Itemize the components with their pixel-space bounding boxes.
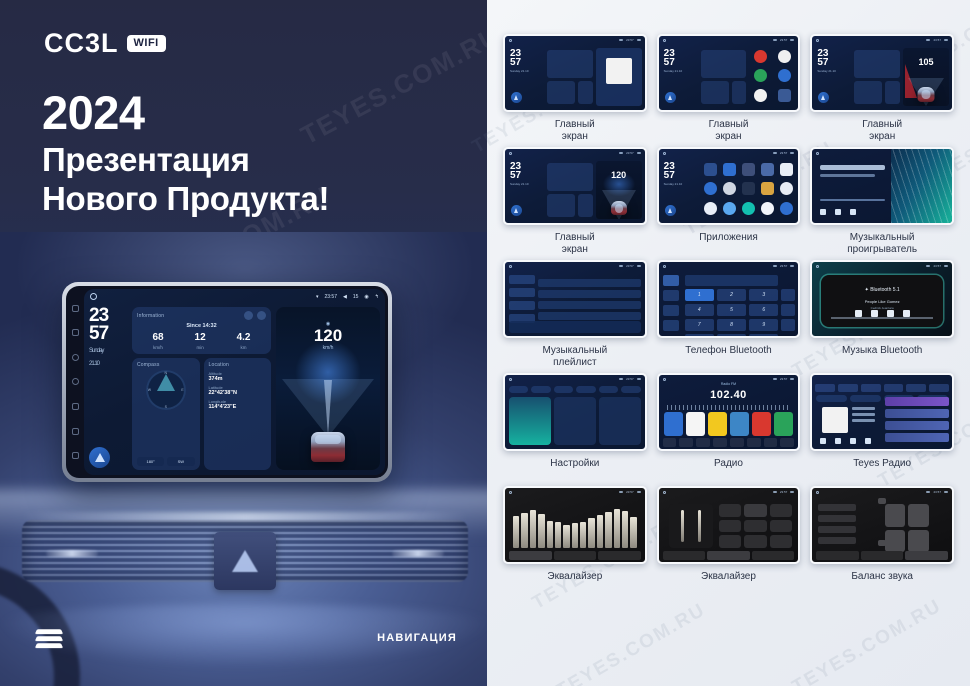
station-presets: [664, 412, 794, 436]
thumbnail-radio[interactable]: 23:57 Radio FM 102.40: [657, 373, 801, 451]
speed-readout: ◉ 120 km/h: [276, 321, 380, 351]
watermark: TEYES.COM.RU: [789, 595, 946, 686]
key-1: 1: [685, 289, 714, 301]
back-arrow-icon[interactable]: ↰: [375, 294, 379, 300]
thumbnail-home-apps[interactable]: 23:57 2357Sunday 21.10: [657, 34, 801, 112]
head-unit-device: ▾ 23:57 ◀ 15 ◉ ↰ 23 57: [62, 282, 392, 482]
list-item: [538, 279, 641, 287]
camera-icon[interactable]: ◉: [364, 294, 368, 300]
navigation-fab-button[interactable]: [89, 447, 110, 468]
status-bar: ▾ 23:57 ◀ 15 ◉ ↰: [84, 289, 385, 304]
gallery-item[interactable]: 23:57 Баланс звука: [810, 486, 954, 597]
location-card: [732, 81, 747, 104]
preset-button: [719, 504, 742, 517]
mini-status-bar: 23:57: [659, 149, 799, 157]
screenshot-gallery: TEYES.COM.RU TEYES.COM.RU TEYES.COM.RU T…: [487, 0, 970, 686]
tab-balance: [905, 551, 948, 560]
dialpad: 123 456 789 *0#: [685, 289, 779, 338]
favorite-icon: [781, 289, 795, 301]
play-pause-icon: [871, 310, 878, 317]
mini-status-bar: 23:57: [505, 36, 645, 44]
compass-card: [854, 81, 882, 104]
trip-stats: 68 km/h 12 min 4.2 km: [137, 333, 266, 350]
key-0: 0: [717, 334, 746, 338]
previous-icon: [820, 438, 826, 444]
gallery-caption: Музыкальныйплейлист: [542, 345, 607, 371]
track-title: [820, 165, 885, 170]
album-art: [822, 407, 848, 433]
thumbnail-settings[interactable]: 23:57: [503, 373, 647, 451]
gallery-caption: Главныйэкран: [555, 232, 595, 258]
refresh-icon[interactable]: [244, 311, 253, 320]
key-7: 7: [685, 319, 714, 331]
speaker-fl: [885, 504, 906, 527]
preset-3: [708, 412, 727, 436]
mini-clock: 2357Sunday 21.10: [817, 49, 836, 73]
compass-card: [547, 81, 575, 104]
compass-readouts: 180° SW: [137, 457, 195, 466]
key-9: 9: [749, 319, 778, 331]
mini-status-bar: 23:57: [812, 262, 952, 270]
gallery-caption: Teyes Радио: [853, 458, 911, 484]
gallery-item[interactable]: 23:57 Музыкальныйпроигрыватель: [810, 147, 954, 258]
headline-block: 2024 Презентация Нового Продукта!: [42, 88, 329, 218]
navigation-fab-button: [665, 92, 676, 103]
compass-heading-cone: [157, 374, 175, 391]
contacts-icon: [781, 304, 795, 316]
gallery-caption: Телефон Bluetooth: [685, 345, 772, 371]
preset-button: [770, 520, 793, 533]
thumbnail-home-nav[interactable]: 23:57 2357Sunday 21.10 120: [503, 147, 647, 225]
playback-controls: [820, 209, 856, 215]
key-star: *: [685, 334, 714, 338]
button-mic-icon[interactable]: [72, 305, 79, 312]
speed-unit: km/h: [276, 345, 380, 351]
list-item: [885, 433, 949, 442]
information-card: [547, 50, 593, 78]
tab-eq: [663, 551, 706, 560]
stat-duration: 12 min: [195, 333, 206, 350]
speaker-rl: [885, 530, 906, 553]
gallery-caption: Баланс звука: [851, 571, 913, 597]
mini-status-bar: 23:57: [659, 36, 799, 44]
location-card: [885, 81, 900, 104]
key-6: 6: [749, 304, 778, 316]
compass-w: W: [148, 388, 151, 392]
home-icon: [663, 152, 666, 155]
key-5: 5: [717, 304, 746, 316]
eq-tabs: [663, 551, 795, 560]
button-home-icon[interactable]: [72, 378, 79, 385]
gallery-item[interactable]: 23:57 2357Sunday 21.10 120 Главныйэкран: [503, 147, 647, 258]
back-button: [665, 205, 676, 216]
favorite-icon: [865, 438, 871, 444]
fader-panel: [669, 504, 713, 548]
mini-status-bar: 23:57: [812, 488, 952, 496]
volume-icon[interactable]: ◀: [343, 294, 347, 300]
home-icon: [509, 378, 512, 381]
phone-sidebar: [663, 275, 679, 331]
thumbnail-apps[interactable]: 23:57 2357Sunday 21.10: [657, 147, 801, 225]
information-title: Information: [137, 313, 164, 319]
stop-icon: [887, 310, 894, 317]
drive-view-card: 105: [903, 48, 949, 106]
compass-title: Compass: [137, 362, 195, 368]
album-art: [606, 58, 632, 84]
thumbnail-bt-music[interactable]: 23:57 ✦ Bluetooth 5.1 People Like Gomez …: [810, 260, 954, 338]
gallery-caption: Главныйэкран: [862, 119, 902, 145]
device-screen[interactable]: ▾ 23:57 ◀ 15 ◉ ↰ 23 57: [84, 289, 385, 475]
navigation-fab-button: [818, 92, 829, 103]
thumbnail-teyes-radio[interactable]: [810, 373, 954, 451]
preset-button: [719, 520, 742, 533]
home-icon: [663, 378, 666, 381]
gallery-item[interactable]: 23:57 2357Sunday 21.10 105 Главныйэкран: [810, 34, 954, 145]
tab-wifi: [509, 386, 528, 393]
navigation-label: НАВИГАЦИЯ: [377, 632, 457, 644]
headline-year: 2024: [42, 88, 329, 137]
home-icon: [816, 265, 819, 268]
preset-4: [730, 412, 749, 436]
gallery-item[interactable]: 23:57 123 456 789 *0# Телефон: [657, 260, 801, 371]
clock-date: 21.10: [89, 361, 127, 369]
screen-body: 23 57 Sunday 21.10 Information: [84, 304, 385, 475]
home-icon: [509, 491, 512, 494]
radio-toolbar: [663, 438, 795, 447]
brand-logo: CC3L WIFI: [44, 28, 166, 59]
balance-presets: [818, 504, 856, 544]
wifi-badge: WIFI: [127, 35, 166, 51]
mini-clock: 2357Sunday 21.10: [664, 49, 683, 73]
key-2: 2: [717, 289, 746, 301]
tab-fader: [554, 551, 597, 560]
latitude-value: 22°42'38"N: [209, 390, 267, 396]
home-icon: [509, 39, 512, 42]
clock-day: Sunday: [89, 348, 127, 356]
preset-6: [774, 412, 793, 436]
gallery-caption: Эквалайзер: [547, 571, 602, 597]
gallery-item[interactable]: 23:57 ✦ Bluetooth 5.1 People Like Gomez …: [810, 260, 954, 371]
compass-e: E: [181, 388, 183, 392]
rear-control: [878, 540, 886, 546]
stat-speed: 68 km/h: [152, 333, 163, 350]
gallery-caption: Главныйэкран: [709, 119, 749, 145]
mini-status-bar: 23:57: [505, 149, 645, 157]
drive-view-card: 120: [596, 161, 642, 219]
status-volume: 15: [353, 294, 359, 300]
progress-bar: [820, 199, 885, 201]
location-card: [578, 194, 593, 217]
preset-2: [686, 412, 705, 436]
stat-value: 12: [195, 333, 206, 343]
gallery-item[interactable]: 23:57 Radio FM 102.40 Радио: [657, 373, 801, 484]
information-card: [854, 50, 900, 78]
stat-unit: min: [195, 345, 206, 350]
bluetooth-label: ✦ Bluetooth 5.1: [821, 287, 943, 293]
stat-distance: 4.2 km: [237, 333, 251, 350]
home-icon: [509, 265, 512, 268]
home-icon: [816, 491, 819, 494]
gallery-caption: Музыкальныйпроигрыватель: [847, 232, 917, 258]
information-card: [701, 50, 747, 78]
now-playing-bar: [509, 321, 641, 333]
gallery-caption: Главныйэкран: [555, 119, 595, 145]
tab-display: [554, 386, 573, 393]
mini-status-bar: 23:57: [659, 488, 799, 496]
gallery-item[interactable]: Teyes Радио: [810, 373, 954, 484]
altitude-value: 374m: [209, 376, 267, 382]
pause-icon: [835, 209, 841, 215]
button-volume-down-icon[interactable]: [72, 428, 79, 435]
hazard-triangle-icon: [232, 550, 258, 572]
since-label: Since 14:32: [137, 323, 266, 329]
mini-status-bar: 23:57: [659, 262, 799, 270]
location-longitude: Longitude 114°4'23"E: [209, 399, 267, 410]
key-8: 8: [717, 319, 746, 331]
number-field: [685, 275, 779, 286]
speed-value: 120: [596, 170, 642, 180]
stat-unit: km: [237, 345, 251, 350]
thumbnail-home-media[interactable]: 23:57 2357Sunday 21.10: [503, 34, 647, 112]
home-icon[interactable]: [90, 293, 97, 300]
gallery-item[interactable]: 23:57 Настройки: [503, 373, 647, 484]
wifi-icon: ▾: [316, 294, 319, 300]
compass-card: [701, 81, 729, 104]
hotspot-card: [554, 397, 596, 445]
compass-card[interactable]: Compass N E S W 180°: [132, 358, 200, 470]
gallery-caption: Эквалайзер: [701, 571, 756, 597]
teyes-toolbar: [815, 384, 949, 392]
more-card: [599, 397, 641, 445]
hero-panel: TEYES.COM.RU TEYES.COM.RU TEYES.COM.RU T…: [0, 0, 487, 686]
wifi-card: [509, 397, 551, 445]
widgets-column: Information Since 14:32 68: [132, 307, 271, 470]
bluetooth-player-card: ✦ Bluetooth 5.1 People Like Gomez Cedric…: [821, 275, 943, 327]
gallery-item[interactable]: 23:57 2357Sunday 21.10: [657, 147, 801, 258]
tab-fader: [861, 551, 904, 560]
stat-value: 68: [152, 333, 163, 343]
speaker-fr: [908, 504, 929, 527]
compass-dial: N E S W: [146, 370, 186, 410]
gallery-grid: 23:57 2357Sunday 21.10 Главныйэкран 23:5…: [503, 34, 954, 597]
presentation-page: TEYES.COM.RU TEYES.COM.RU TEYES.COM.RU T…: [0, 0, 970, 686]
hazard-light-button[interactable]: [214, 532, 276, 590]
tab-sound: [531, 386, 550, 393]
next-icon: [903, 310, 910, 317]
stat-value: 4.2: [237, 333, 251, 343]
widgets-row: Compass N E S W 180°: [132, 358, 271, 470]
gallery-caption: Настройки: [550, 458, 599, 484]
tab-apps: [599, 386, 618, 393]
visualizer-graphic: [891, 149, 952, 223]
information-header: Information: [137, 311, 266, 320]
mini-status-bar: 23:57: [812, 36, 952, 44]
brand-name: CC3L: [44, 28, 119, 59]
track-title: People Like Gomez: [821, 299, 943, 304]
tab-balance: [752, 551, 795, 560]
location-latitude: Latitude 22°42'38"N: [209, 385, 267, 396]
clock-widget: 23 57 Sunday 21.10: [89, 307, 127, 369]
mini-clock: 2357Sunday 21.10: [510, 49, 529, 73]
previous-icon: [820, 209, 826, 215]
playback-controls: [821, 310, 943, 317]
tab-eq: [816, 551, 859, 560]
track-list: [538, 279, 641, 320]
location-card: [578, 81, 593, 104]
mini-status-bar: 23:57: [505, 488, 645, 496]
preset-button: [744, 504, 767, 517]
navigation-fab-button: [511, 205, 522, 216]
key-4: 4: [685, 304, 714, 316]
list-item: [538, 312, 641, 320]
gallery-item[interactable]: 23:57 2357Sunday 21.10 Главныйэкран: [503, 34, 647, 145]
thumbnail-playlist[interactable]: 23:57: [503, 260, 647, 338]
thumbnail-sound-balance[interactable]: 23:57: [810, 486, 954, 564]
app-grid: [703, 161, 795, 217]
thumbnail-equalizer-presets[interactable]: 23:57: [657, 486, 801, 564]
playback-controls: [820, 438, 871, 444]
gallery-item[interactable]: 23:57 Эквалайзер: [503, 486, 647, 597]
location-title: Location: [209, 362, 267, 368]
gallery-caption: Приложения: [699, 232, 758, 258]
information-actions[interactable]: [244, 311, 266, 320]
progress-bar: [831, 317, 933, 319]
gallery-caption: Музыка Bluetooth: [842, 345, 922, 371]
clock-minutes: 57: [89, 325, 127, 343]
mini-clock: 2357Sunday 21.10: [510, 162, 529, 186]
head-unit-bezel: ▾ 23:57 ◀ 15 ◉ ↰ 23 57: [66, 286, 388, 478]
location-card[interactable]: Location Altitude 374m Latitude 22°42'38…: [204, 358, 272, 470]
home-icon: [663, 491, 666, 494]
speaker-rr: [908, 530, 929, 553]
status-time: 23:57: [324, 294, 337, 300]
thumbnail-bt-phone[interactable]: 23:57 123 456 789 *0#: [657, 260, 801, 338]
thumbnail-music-player[interactable]: 23:57: [810, 147, 954, 225]
next-icon: [850, 209, 856, 215]
list-item: [885, 397, 949, 406]
list-item: [885, 421, 949, 430]
home-icon: [663, 265, 666, 268]
tab-eq: [509, 551, 552, 560]
gallery-caption: Радио: [714, 458, 743, 484]
drive-view-card[interactable]: ◉ 120 km/h: [276, 307, 380, 470]
tab-fader: [707, 551, 750, 560]
headline-line1: Презентация: [42, 141, 329, 179]
call-icon: [781, 319, 795, 331]
key-hash: #: [749, 334, 778, 338]
button-volume-up-icon[interactable]: [72, 452, 79, 459]
information-card[interactable]: Information Since 14:32 68: [132, 307, 271, 354]
radio-frequency: 102.40: [659, 389, 799, 401]
compass-card: [547, 194, 575, 217]
preset-1: [664, 412, 683, 436]
gallery-item[interactable]: 23:57 Музыкальныйплейлист: [503, 260, 647, 371]
information-card: [547, 163, 593, 191]
next-icon: [850, 438, 856, 444]
compass-direction: SW: [167, 457, 194, 466]
list-item: [885, 409, 949, 418]
preset-button: [744, 520, 767, 533]
button-power-icon[interactable]: [72, 354, 79, 361]
speed-value: 120: [276, 327, 380, 345]
compass-heading: 180°: [137, 457, 164, 466]
radio-band-label: Radio FM: [659, 382, 799, 386]
mini-status-bar: 23:57: [505, 262, 645, 270]
gallery-item[interactable]: 23:57 Эквалайзер: [657, 486, 801, 597]
tab-balance: [598, 551, 641, 560]
home-icon: [816, 152, 819, 155]
lane-marking: [324, 380, 332, 436]
car-3d-model: [311, 432, 345, 462]
stop-icon: [835, 438, 841, 444]
list-item: [538, 290, 641, 298]
gallery-item[interactable]: 23:57 2357Sunday 21.10 Главныйэкран: [657, 34, 801, 145]
physical-buttons[interactable]: [68, 296, 82, 468]
home-icon: [816, 39, 819, 42]
settings-cards: [509, 397, 641, 445]
tuner-scale: [667, 405, 791, 410]
eq-sliders: [513, 504, 637, 548]
layers-icon: [36, 628, 62, 650]
button-back-icon[interactable]: [72, 403, 79, 410]
location-altitude: Altitude 374m: [209, 371, 267, 382]
front-control: [878, 498, 886, 504]
speed-value: 105: [903, 57, 949, 67]
clock-column: 23 57 Sunday 21.10: [89, 307, 127, 470]
preset-buttons: [719, 504, 793, 548]
playlist-sidebar: [509, 275, 535, 323]
stat-unit: km/h: [152, 345, 163, 350]
app-shortcuts: [749, 48, 795, 104]
eq-tabs: [816, 551, 948, 560]
air-vent-right: [392, 550, 444, 557]
watermark: TEYES.COM.RU: [553, 599, 710, 686]
button-mode-icon[interactable]: [72, 329, 79, 336]
tab-system: [576, 386, 595, 393]
home-icon: [509, 152, 512, 155]
compass-s: S: [165, 405, 167, 409]
mini-clock: 2357Sunday 21.10: [664, 162, 683, 186]
preset-button: [770, 504, 793, 517]
home-icon: [663, 39, 666, 42]
air-vent-left: [46, 550, 98, 557]
thumbnail-equalizer[interactable]: 23:57: [503, 486, 647, 564]
phone-actions: [781, 289, 795, 331]
tab-about: [621, 386, 640, 393]
eq-tabs: [509, 551, 641, 560]
status-bar-right: ▾ 23:57 ◀ 15 ◉ ↰: [316, 294, 379, 300]
longitude-value: 114°4'23"E: [209, 404, 267, 410]
compass-n: N: [164, 371, 167, 375]
mini-status-bar: 23:57: [505, 375, 645, 383]
preset-button: [719, 535, 742, 548]
station-list: [885, 397, 949, 442]
preset-button: [744, 535, 767, 548]
navigation-arrow-icon: [95, 453, 105, 462]
headline-line2: Нового Продукта!: [42, 180, 329, 218]
preset-5: [752, 412, 771, 436]
thumbnail-home-drive[interactable]: 23:57 2357Sunday 21.10 105: [810, 34, 954, 112]
key-3: 3: [749, 289, 778, 301]
settings-tabs: [509, 386, 641, 393]
expand-icon[interactable]: [257, 311, 266, 320]
track-meta: [852, 407, 874, 422]
preset-button: [770, 535, 793, 548]
list-item: [538, 301, 641, 309]
navigation-fab-button: [511, 92, 522, 103]
speaker-grid: [885, 504, 929, 552]
previous-icon: [855, 310, 862, 317]
